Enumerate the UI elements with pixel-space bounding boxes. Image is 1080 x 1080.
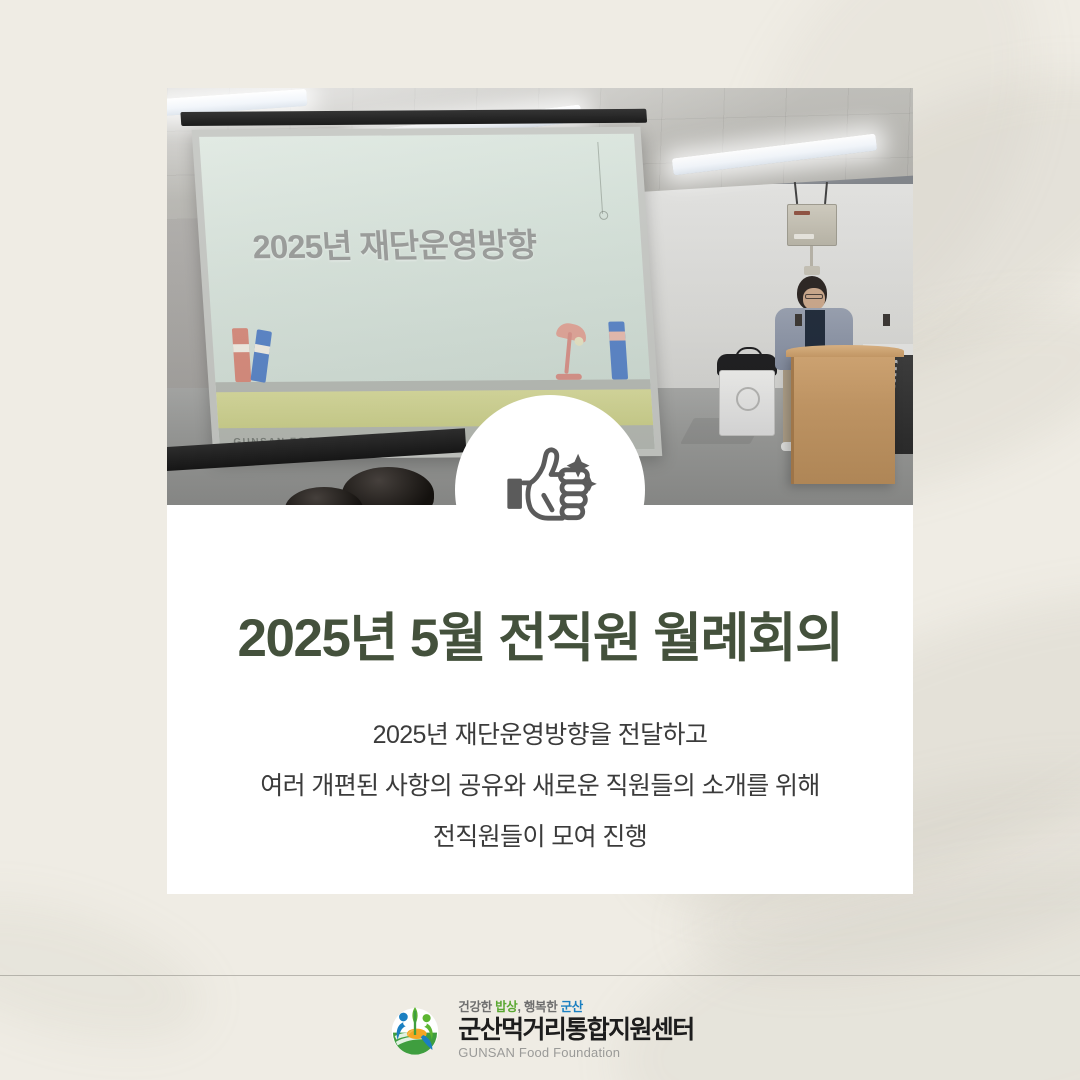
antenna-icon: [824, 182, 828, 204]
podium-leg: [795, 314, 802, 326]
tagline-part-1: 건강한: [458, 1000, 495, 1014]
slide-book-icon: [608, 322, 628, 380]
presenter-face: [803, 288, 825, 310]
page-title: 2025년 5월 전직원 월례회의: [167, 609, 913, 670]
organization-name-ko: 군산먹거리통합지원센터: [458, 1017, 693, 1043]
description-line-3: 전직원들이 모여 진행: [167, 812, 913, 863]
podium: [791, 354, 895, 484]
screen-top-bar: [180, 109, 647, 126]
description: 2025년 재단운영방향을 전달하고 여러 개편된 사항의 공유와 새로운 직원…: [167, 710, 913, 864]
organization-name-en: GUNSAN Food Foundation: [458, 1045, 620, 1060]
tagline-highlight-2: 군산: [561, 1000, 583, 1014]
logo-tagline: 건강한 밥상, 행복한 군산: [458, 996, 583, 1015]
air-purifier: [719, 370, 775, 436]
glasses-icon: [805, 294, 823, 299]
slide-desk-lamp-icon: [550, 322, 590, 380]
slide-book-icon: [232, 328, 252, 382]
tagline-highlight-1: 밥상: [495, 1000, 517, 1014]
gunsan-food-foundation-logo-icon: [386, 999, 444, 1057]
text-block: 2025년 5월 전직원 월례회의 2025년 재단운영방향을 전달하고 여러 …: [167, 505, 913, 894]
slide-book-icon: [251, 329, 272, 383]
slide-title: 2025년 재단운영방향: [251, 218, 538, 268]
antenna-icon: [794, 182, 798, 204]
poster-page: 2025년 재단운영방향 GUNSAN FOOD: [0, 0, 1080, 1080]
description-line-2: 여러 개편된 사항의 공유와 새로운 직원들의 소개를 위해: [167, 761, 913, 812]
screen-pull-cord: [597, 142, 603, 214]
wall-control-box: [787, 204, 837, 246]
tagline-part-2: , 행복한: [517, 1000, 560, 1014]
presenter-area: [713, 184, 913, 505]
footer: 건강한 밥상, 행복한 군산 군산먹거리통합지원센터 GUNSAN Food F…: [0, 976, 1080, 1080]
description-line-1: 2025년 재단운영방향을 전달하고: [167, 710, 913, 761]
logo-text-group: 건강한 밥상, 행복한 군산 군산먹거리통합지원센터 GUNSAN Food F…: [458, 996, 693, 1060]
podium-leg: [883, 314, 890, 326]
content-card: 2025년 재단운영방향 GUNSAN FOOD: [167, 88, 913, 894]
wall-conduit: [810, 246, 813, 268]
